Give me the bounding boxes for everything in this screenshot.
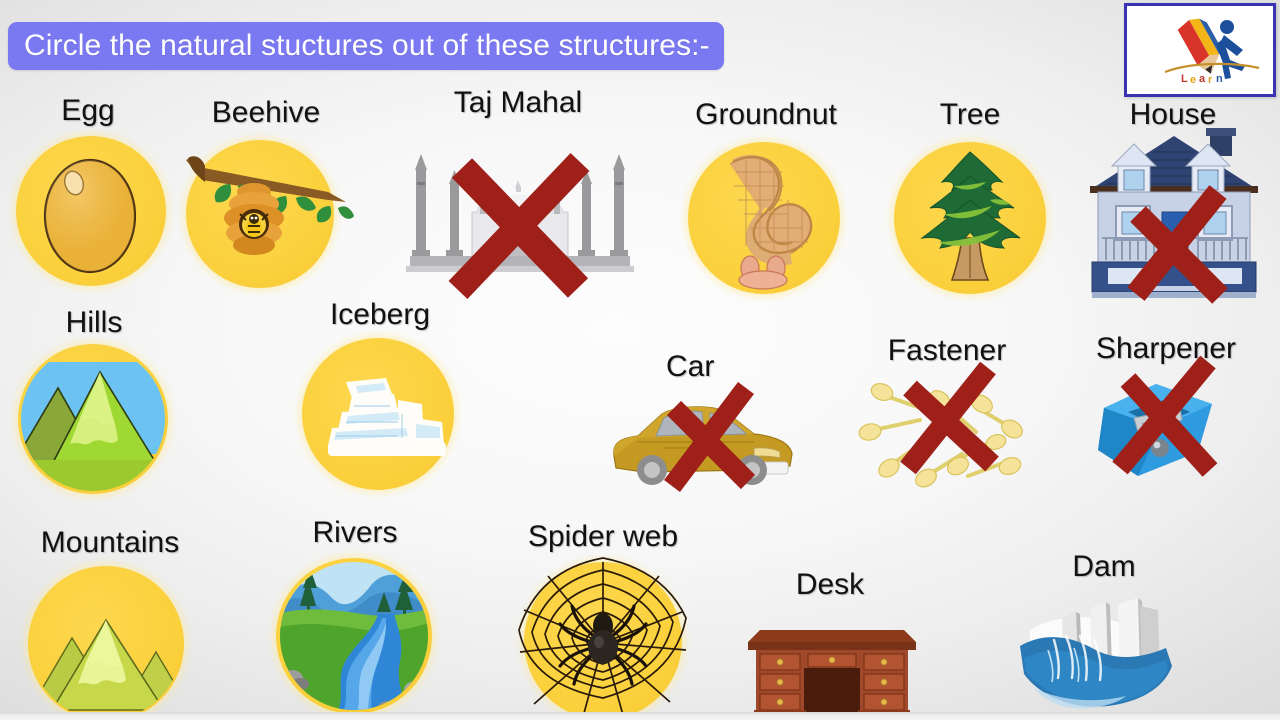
item-egg[interactable]: Egg (8, 96, 168, 286)
tree-icon (894, 142, 1046, 294)
instruction-banner: Circle the natural stuctures out of thes… (8, 22, 724, 70)
rivers-icon (276, 558, 432, 714)
item-dam[interactable]: Dam (1014, 552, 1194, 720)
item-label-sharpener: Sharpener (1096, 334, 1236, 364)
item-label-car: Car (666, 352, 714, 382)
hills-icon (18, 344, 168, 494)
item-label-taj-mahal: Taj Mahal (454, 88, 582, 118)
item-mountains[interactable]: Mountains (20, 528, 200, 720)
beehive-icon (178, 140, 354, 290)
instruction-text: Circle the natural stuctures out of thes… (24, 29, 710, 63)
item-sharpener[interactable]: Sharpener (1066, 334, 1266, 484)
svg-text:n: n (1216, 73, 1223, 85)
item-label-mountains: Mountains (41, 528, 179, 558)
svg-text:e: e (1190, 74, 1196, 86)
svg-text:r: r (1208, 74, 1213, 86)
svg-text:L: L (1181, 73, 1188, 85)
worksheet-page: Circle the natural stuctures out of thes… (0, 0, 1280, 720)
item-label-rivers: Rivers (312, 518, 397, 548)
item-house[interactable]: House (1074, 100, 1272, 306)
item-taj-mahal[interactable]: Taj Mahal (398, 88, 638, 288)
iceberg-icon (302, 338, 454, 490)
item-fastener[interactable]: Fastener (852, 336, 1042, 486)
item-car[interactable]: Car (604, 352, 814, 492)
mountains-icon (28, 566, 184, 720)
item-beehive[interactable]: Beehive (178, 98, 354, 288)
house-icon (1082, 126, 1266, 306)
item-label-fastener: Fastener (888, 336, 1006, 366)
egg-icon (16, 136, 166, 286)
spider-web-icon (514, 554, 692, 720)
item-label-egg: Egg (61, 96, 114, 126)
item-label-desk: Desk (796, 570, 864, 600)
item-groundnut[interactable]: Groundnut (678, 100, 854, 290)
item-label-hills: Hills (66, 308, 123, 338)
car-icon (604, 394, 800, 492)
dam-icon (1014, 592, 1194, 720)
item-rivers[interactable]: Rivers (268, 518, 442, 718)
taj-mahal-icon (406, 140, 634, 280)
item-label-iceberg: Iceberg (330, 300, 430, 330)
item-label-dam: Dam (1072, 552, 1135, 582)
item-label-tree: Tree (940, 100, 1001, 130)
desk-icon (748, 610, 916, 718)
item-label-beehive: Beehive (212, 98, 320, 128)
item-label-groundnut: Groundnut (695, 100, 837, 130)
sharpener-icon (1094, 378, 1224, 482)
item-hills[interactable]: Hills (8, 308, 180, 498)
groundnut-icon (688, 142, 840, 294)
pencil-person-logo: L e a r n (1124, 3, 1276, 97)
svg-text:a: a (1199, 73, 1206, 85)
item-label-spider-web: Spider web (528, 522, 678, 552)
item-desk[interactable]: Desk (740, 570, 920, 720)
fastener-icon (858, 378, 1038, 488)
bottom-strip (0, 712, 1280, 720)
item-tree[interactable]: Tree (894, 100, 1046, 290)
item-spider-web[interactable]: Spider web (510, 522, 696, 718)
item-iceberg[interactable]: Iceberg (294, 300, 466, 490)
logo-artwork: L e a r n (1127, 6, 1273, 94)
